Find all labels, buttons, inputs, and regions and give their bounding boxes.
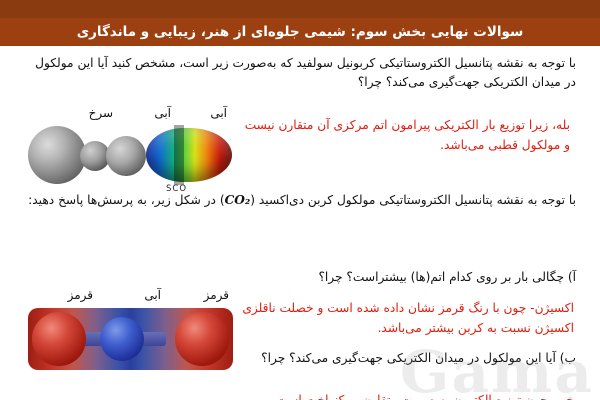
atom-sulfur [28,126,86,184]
answer-1-text: بله، زیرا توزیع بار الکتریکی پیرامون اتم… [240,116,570,155]
label-blue-2: آبی [154,106,171,120]
top-accent-bar [0,0,600,18]
page-title: سوالات نهایی بخش سوم: شیمی جلوه‌ای از هن… [77,24,524,40]
label-red-right: قرمز [68,288,93,302]
question-2-intro: با توجه به نقشه پتانسیل الکتروستاتیکی مو… [24,191,576,210]
formula-co2: CO₂ [225,191,251,210]
atom-oxygen [106,136,146,176]
question-2-intro-part1: با توجه به نقشه پتانسیل الکتروستاتیکی مو… [250,193,576,207]
sco-potential-map [146,128,232,182]
slide-title-bar: سوالات نهایی بخش سوم: شیمی جلوه‌ای از هن… [0,18,600,46]
label-red: سرخ [89,106,113,120]
answer-2a-text: اکسیژن- چون با رنگ قرمز نشان داده شده اس… [238,299,574,338]
figure-sco-labels: آبی آبی سرخ [28,104,233,126]
label-red-left: قرمز [204,288,229,302]
watermark: Gama [400,338,594,400]
label-blue-center: آبی [144,288,161,302]
question-2a-text: آ) چگالی بار بر روی کدام اتم(ها) بیشتراس… [24,268,576,287]
question-2-intro-part2: ) در شکل زیر، به پرسش‌ها پاسخ دهید: [28,193,224,207]
slide-canvas: سوالات نهایی بخش سوم: شیمی جلوه‌ای از هن… [0,0,600,400]
label-blue: آبی [210,106,227,120]
question-1-text: با توجه به نقشه پتانسیل الکتروستاتیکی کر… [24,54,576,92]
figure-sco: آبی آبی سرخ SCO [28,104,233,194]
